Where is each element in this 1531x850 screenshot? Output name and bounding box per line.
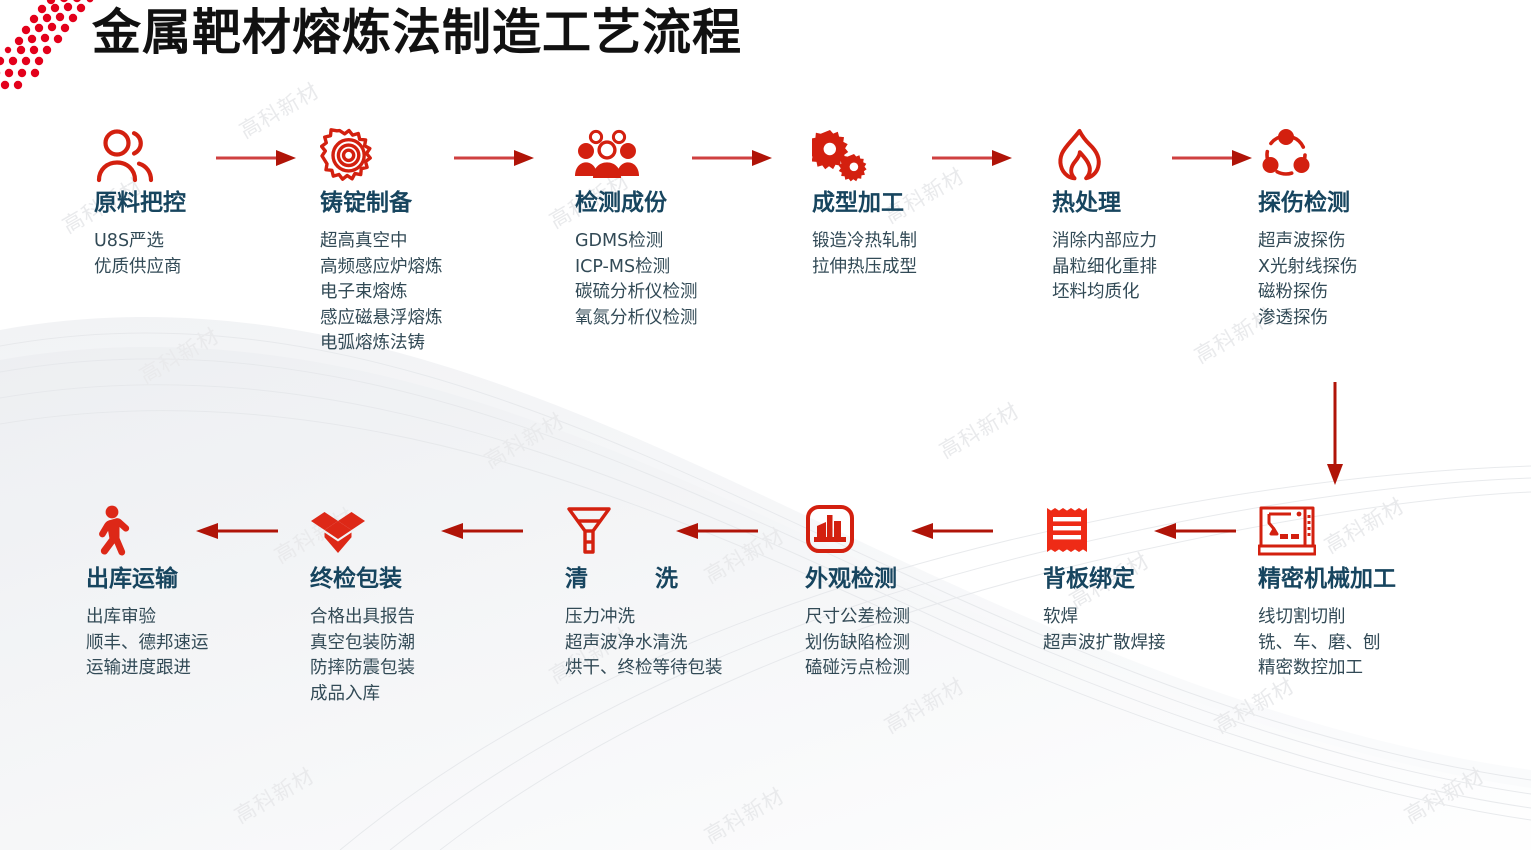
arrow-left-icon — [905, 518, 995, 544]
step-item: 线切割切削 — [1258, 605, 1396, 631]
step-item-list: 线切割切削 铣、车、磨、刨 精密数控加工 — [1258, 605, 1396, 682]
watermark: 高科新材 — [1398, 760, 1489, 830]
step-item: 铣、车、磨、刨 — [1258, 631, 1396, 657]
step-item-list: 尺寸公差检测 划伤缺陷检测 磕碰污点检测 — [805, 605, 910, 682]
flame-icon — [1052, 128, 1157, 184]
page-title: 金属靶材熔炼法制造工艺流程 — [92, 2, 742, 64]
step-item-list: 超高真空中 高频感应炉熔炼 电子束熔炼 感应磁悬浮熔炼 电弧熔炼法铸 — [320, 229, 443, 357]
step-item: 成品入库 — [310, 682, 415, 708]
arrow-right-icon — [690, 145, 776, 171]
step-item: 出库审验 — [86, 605, 209, 631]
step-item: 渗透探伤 — [1258, 306, 1358, 332]
watermark: 高科新材 — [133, 320, 224, 390]
step-card-12[interactable]: 出库运输 出库审验 顺丰、德邦速运 运输进度跟进 — [86, 504, 209, 682]
people-group-icon — [575, 128, 698, 184]
step-item: 消除内部应力 — [1052, 229, 1157, 255]
step-item: ICP-MS检测 — [575, 255, 698, 281]
step-item: 优质供应商 — [94, 255, 186, 281]
step-item-list: 超声波探伤 X光射线探伤 磁粉探伤 渗透探伤 — [1258, 229, 1358, 331]
step-title: 成型加工 — [812, 190, 917, 217]
step-card-2[interactable]: 铸锭制备 超高真空中 高频感应炉熔炼 电子束熔炼 感应磁悬浮熔炼 电弧熔炼法铸 — [320, 128, 443, 357]
step-title: 原料把控 — [94, 190, 186, 217]
plate-lines-icon — [1043, 504, 1166, 560]
step-item: 尺寸公差检测 — [805, 605, 910, 631]
arrow-down-icon — [1318, 380, 1352, 490]
watermark: 高科新材 — [478, 405, 569, 475]
step-item: 超声波净水清洗 — [565, 631, 745, 657]
step-item-list: 锻造冷热轧制 拉伸热压成型 — [812, 229, 917, 280]
step-item: 超声波探伤 — [1258, 229, 1358, 255]
watermark: 高科新材 — [228, 760, 319, 830]
step-item: 压力冲洗 — [565, 605, 745, 631]
step-item: 超声波扩散焊接 — [1043, 631, 1166, 657]
funnel-icon — [565, 504, 745, 560]
users-icon — [94, 128, 186, 184]
step-item: 合格出具报告 — [310, 605, 415, 631]
step-item: 真空包装防潮 — [310, 631, 415, 657]
step-title: 外观检测 — [805, 566, 910, 593]
step-item: X光射线探伤 — [1258, 255, 1358, 281]
step-item: 拉伸热压成型 — [812, 255, 917, 281]
step-item: 锻造冷热轧制 — [812, 229, 917, 255]
step-item: 超高真空中 — [320, 229, 443, 255]
step-card-11[interactable]: 终检包装 合格出具报告 真空包装防潮 防摔防震包装 成品入库 — [310, 504, 415, 707]
flowchart-canvas: 高科新材 高科新材 高科新材 高科新材 高科新材 高科新材 高科新材 高科新材 … — [0, 0, 1531, 850]
step-card-7[interactable]: 精密机械加工 线切割切削 铣、车、磨、刨 精密数控加工 — [1258, 504, 1396, 682]
step-title: 精密机械加工 — [1258, 566, 1396, 593]
step-item: 感应磁悬浮熔炼 — [320, 306, 443, 332]
arrow-right-icon — [930, 145, 1016, 171]
walking-person-icon — [86, 504, 209, 560]
step-item: 电子束熔炼 — [320, 280, 443, 306]
step-card-5[interactable]: 热处理 消除内部应力 晶粒细化重排 坯料均质化 — [1052, 128, 1157, 306]
step-title: 背板绑定 — [1043, 566, 1166, 593]
step-item: 精密数控加工 — [1258, 656, 1396, 682]
step-item: 防摔防震包装 — [310, 656, 415, 682]
step-item: 坯料均质化 — [1052, 280, 1157, 306]
step-item: 晶粒细化重排 — [1052, 255, 1157, 281]
arrow-right-icon — [1170, 145, 1256, 171]
watermark: 高科新材 — [698, 780, 789, 850]
step-title: 探伤检测 — [1258, 190, 1358, 217]
arrow-right-icon — [214, 145, 300, 171]
step-item-list: GDMS检测 ICP-MS检测 碳硫分析仪检测 氧氮分析仪检测 — [575, 229, 698, 331]
step-card-4[interactable]: 成型加工 锻造冷热轧制 拉伸热压成型 — [812, 128, 917, 280]
step-title: 铸锭制备 — [320, 190, 443, 217]
step-item-list: 压力冲洗 超声波净水清洗 烘干、终检等待包装 — [565, 605, 745, 682]
step-item: 碳硫分析仪检测 — [575, 280, 698, 306]
step-card-9[interactable]: 外观检测 尺寸公差检测 划伤缺陷检测 磕碰污点检测 — [805, 504, 910, 682]
watermark: 高科新材 — [933, 395, 1024, 465]
step-card-6[interactable]: 探伤检测 超声波探伤 X光射线探伤 磁粉探伤 渗透探伤 — [1258, 128, 1358, 331]
step-item: U8S严选 — [94, 229, 186, 255]
step-card-10[interactable]: 清 洗 压力冲洗 超声波净水清洗 烘干、终检等待包装 — [565, 504, 745, 682]
step-card-1[interactable]: 原料把控 U8S严选 优质供应商 — [94, 128, 186, 280]
gear-icon — [320, 128, 443, 184]
three-node-circle-icon — [1258, 128, 1358, 184]
cnc-machine-icon — [1258, 504, 1396, 560]
step-title: 清 洗 — [565, 566, 745, 593]
step-item: 运输进度跟进 — [86, 656, 209, 682]
open-box-icon — [310, 504, 415, 560]
step-title: 检测成份 — [575, 190, 698, 217]
step-item-list: 出库审验 顺丰、德邦速运 运输进度跟进 — [86, 605, 209, 682]
step-title: 热处理 — [1052, 190, 1157, 217]
step-item: 氧氮分析仪检测 — [575, 306, 698, 332]
step-item-list: 消除内部应力 晶粒细化重排 坯料均质化 — [1052, 229, 1157, 306]
step-item: 划伤缺陷检测 — [805, 631, 910, 657]
step-item: 软焊 — [1043, 605, 1166, 631]
step-item: 高频感应炉熔炼 — [320, 255, 443, 281]
step-title: 出库运输 — [86, 566, 209, 593]
step-item: 烘干、终检等待包装 — [565, 656, 735, 682]
step-item-list: 合格出具报告 真空包装防潮 防摔防震包装 成品入库 — [310, 605, 415, 707]
step-item: 磁粉探伤 — [1258, 280, 1358, 306]
two-gears-icon — [812, 128, 917, 184]
step-item: 顺丰、德邦速运 — [86, 631, 209, 657]
arrow-right-icon — [452, 145, 538, 171]
watermark: 高科新材 — [233, 75, 324, 145]
step-item-list: U8S严选 优质供应商 — [94, 229, 186, 280]
step-card-3[interactable]: 检测成份 GDMS检测 ICP-MS检测 碳硫分析仪检测 氧氮分析仪检测 — [575, 128, 698, 331]
step-item-list: 软焊 超声波扩散焊接 — [1043, 605, 1166, 656]
step-item: GDMS检测 — [575, 229, 698, 255]
step-title: 终检包装 — [310, 566, 415, 593]
step-card-8[interactable]: 背板绑定 软焊 超声波扩散焊接 — [1043, 504, 1166, 656]
step-item: 电弧熔炼法铸 — [320, 331, 443, 357]
step-item: 磕碰污点检测 — [805, 656, 910, 682]
factory-badge-icon — [805, 504, 910, 560]
arrow-left-icon — [435, 518, 525, 544]
